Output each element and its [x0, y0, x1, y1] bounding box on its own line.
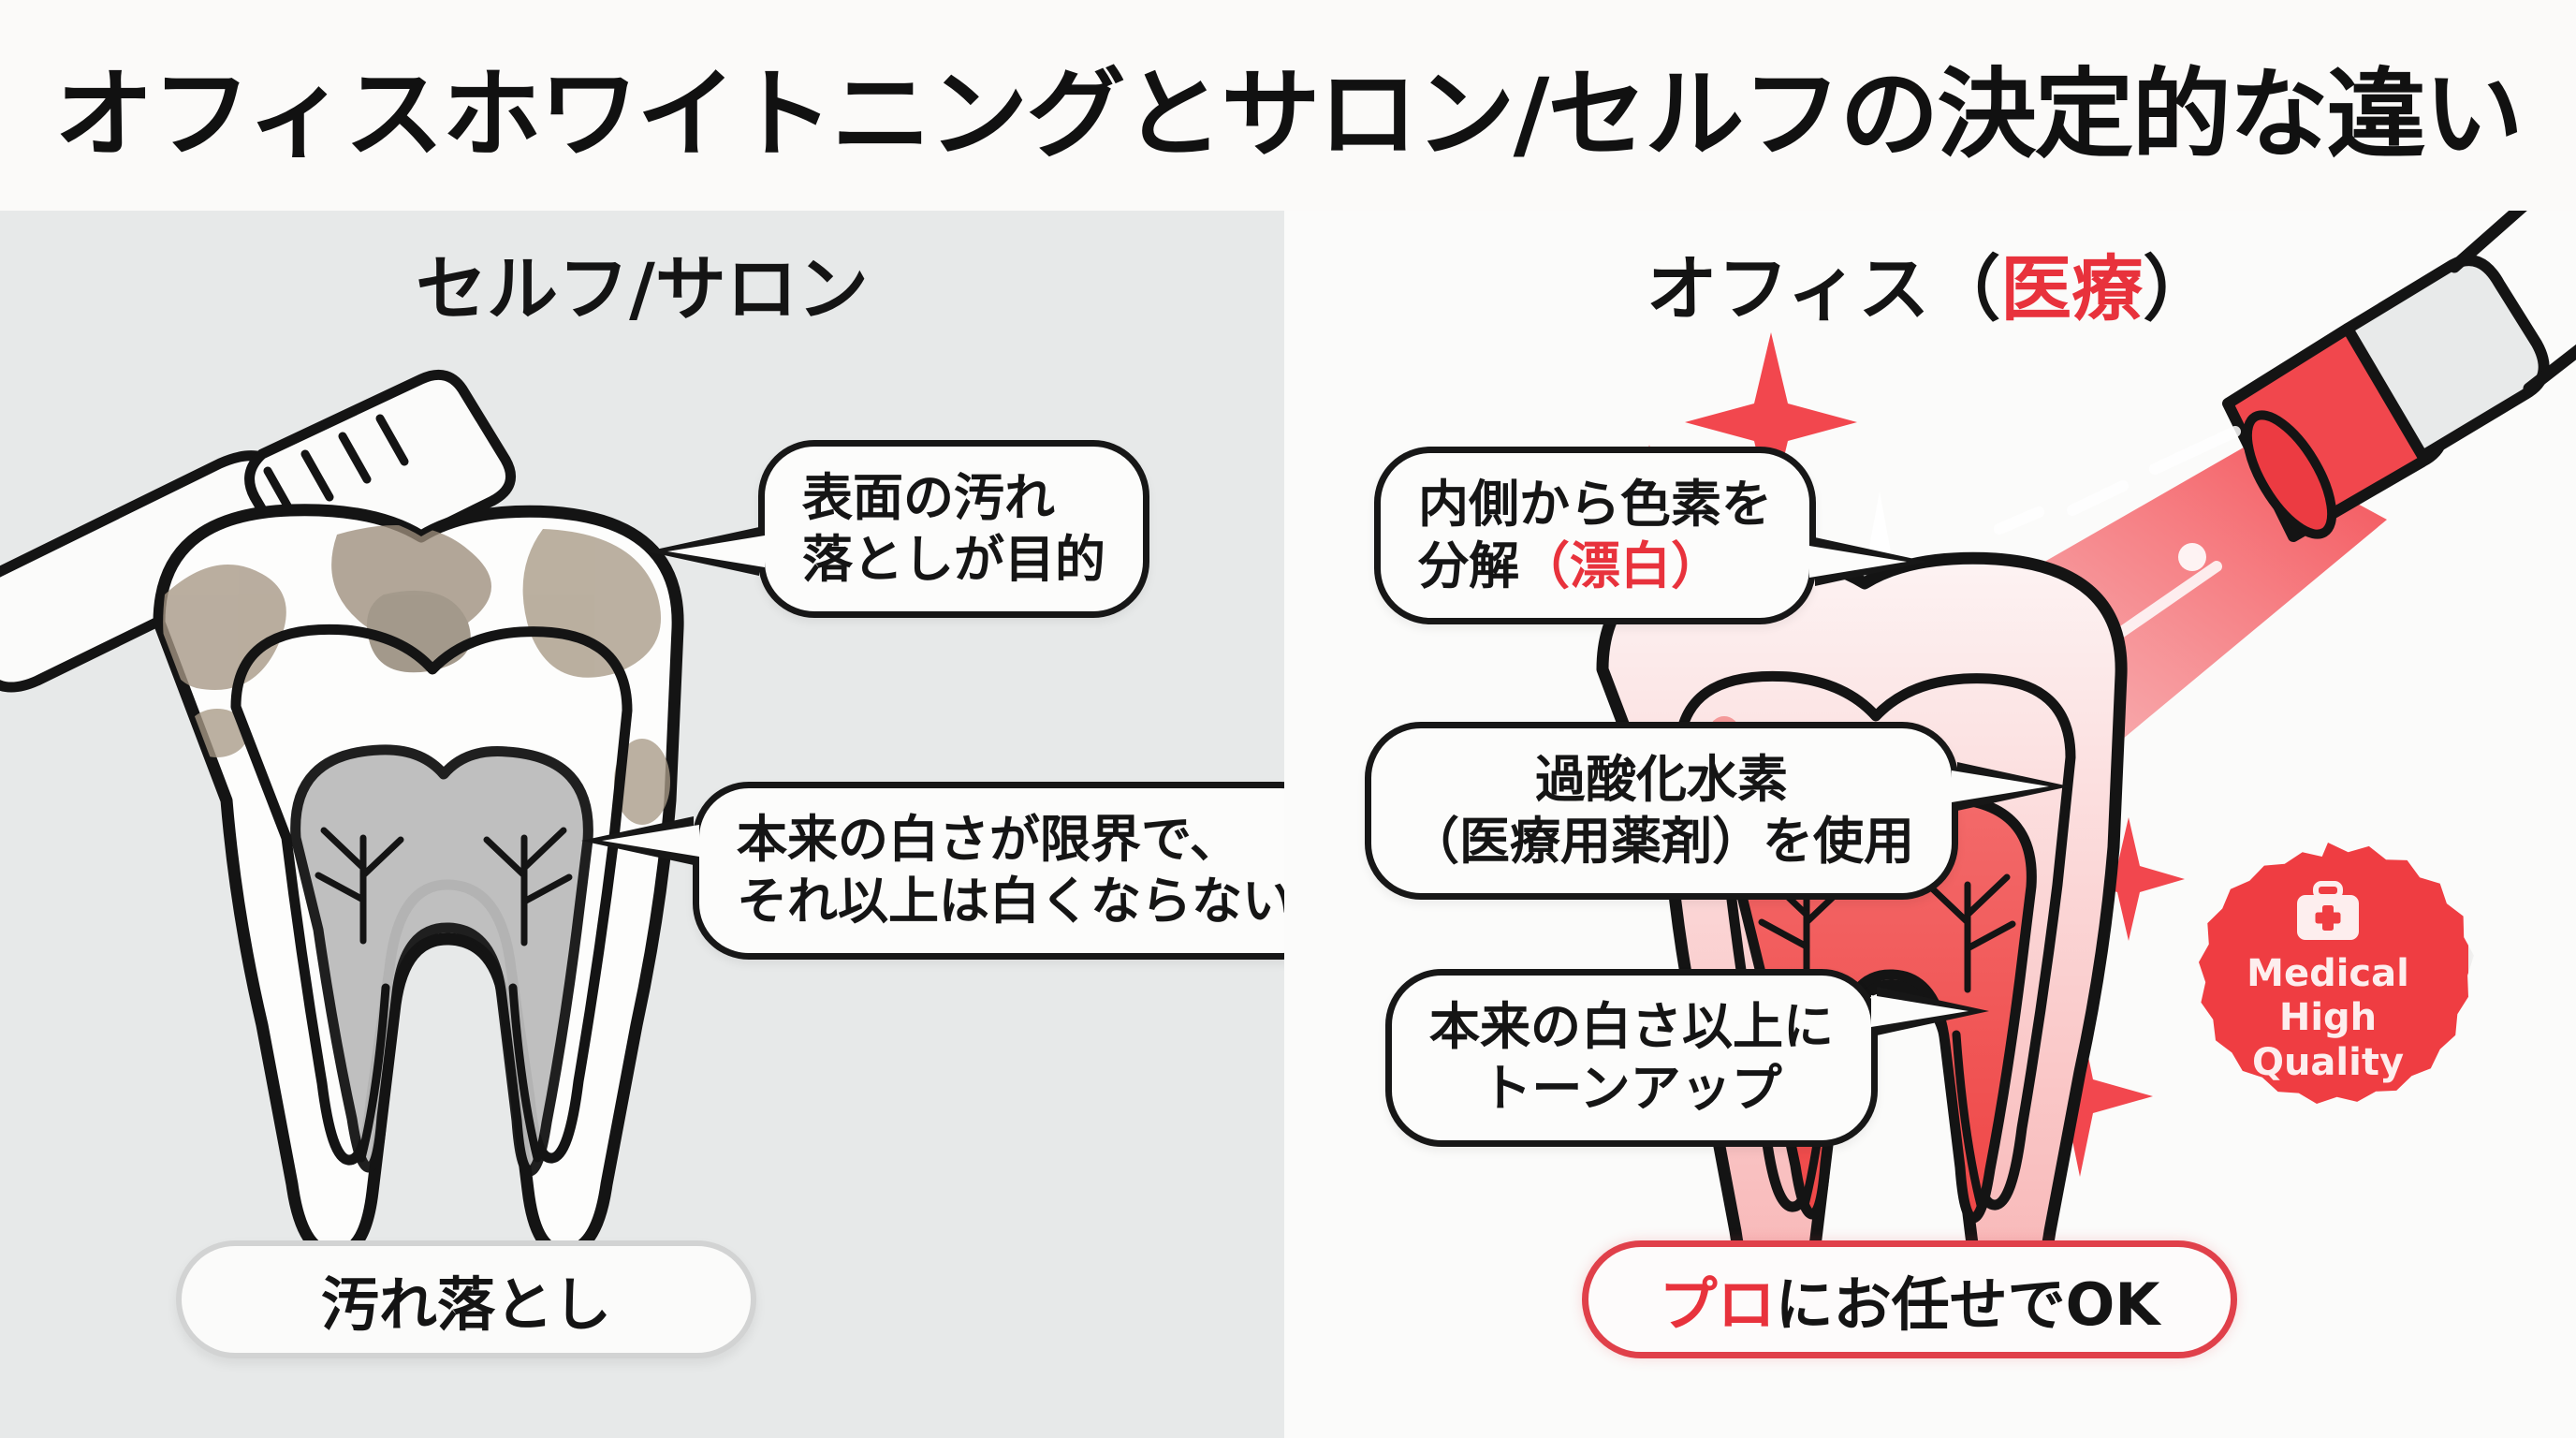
bubble-tone-up: 本来の白さ以上に トーンアップ [1385, 969, 1878, 1147]
bubble-internal-pigment-line2-accent: （漂白） [1519, 536, 1721, 595]
bubble-tail-fill-icon [1809, 546, 1907, 578]
bubble-tone-up-line1: 本来の白さ以上に [1429, 996, 1834, 1058]
bubble-internal-pigment-line2: 分解（漂白） [1418, 536, 1772, 597]
bubble-hydrogen-peroxide-line2: （医療用薬剤）を使用 [1409, 811, 1914, 873]
pill-self-text: 汚れ落とし [321, 1257, 611, 1342]
bubble-surface-stain-line1: 表面の汚れ [802, 467, 1105, 529]
badge-line-2: High [2279, 996, 2377, 1040]
bubble-tail-fill-icon [667, 536, 765, 567]
first-aid-kit-icon [2293, 881, 2363, 943]
panel-self-salon: セルフ/サロン [0, 211, 1284, 1438]
page-title: オフィスホワイトニングとサロン/セルフの決定的な違い [54, 35, 2522, 176]
bubble-tail-fill-icon [1952, 770, 2049, 802]
tooth-shape [159, 510, 678, 1254]
bubble-hydrogen-peroxide-line1: 過酸化水素 [1409, 749, 1914, 811]
bubble-whiteness-limit: 本来の白さが限界で、 それ以上は白くならない [693, 782, 1284, 960]
bubble-tail-fill-icon [602, 825, 699, 857]
bubble-tone-up-line2: トーンアップ [1429, 1058, 1834, 1120]
tooth-shape-bleached [1603, 557, 2121, 1300]
bubble-tail-fill-icon [1871, 995, 1969, 1027]
bubble-hydrogen-peroxide: 過酸化水素 （医療用薬剤）を使用 [1365, 722, 1958, 900]
tooth-stained-illustration [0, 314, 693, 1306]
bubble-whiteness-limit-line2: それ以上は白くならない [737, 871, 1284, 932]
bubble-internal-pigment-line1: 内側から色素を [1418, 474, 1772, 536]
pill-office-accent: プロ [1660, 1257, 1776, 1342]
bubble-surface-stain: 表面の汚れ 落としが目的 [758, 440, 1149, 618]
pill-self-label[interactable]: 汚れ落とし [176, 1240, 756, 1358]
panel-office-medical: オフィス（医療） [1284, 211, 2576, 1438]
bubble-whiteness-limit-line1: 本来の白さが限界で、 [737, 809, 1284, 871]
bubble-surface-stain-line2: 落としが目的 [802, 529, 1105, 591]
title-bar: オフィスホワイトニングとサロン/セルフの決定的な違い [0, 0, 2576, 211]
badge-line-3: Quality [2252, 1041, 2404, 1085]
pill-office-label[interactable]: プロにお任せでOK [1582, 1240, 2237, 1358]
pill-office-text: にお任せでOK [1776, 1257, 2160, 1342]
led-light-wand-icon [2228, 211, 2576, 547]
bubble-internal-pigment: 内側から色素を 分解（漂白） [1374, 447, 1816, 624]
bubble-internal-pigment-line2-main: 分解 [1418, 536, 1519, 595]
comparison-panels: セルフ/サロン [0, 211, 2576, 1438]
badge-line-1: Medical [2247, 952, 2409, 996]
